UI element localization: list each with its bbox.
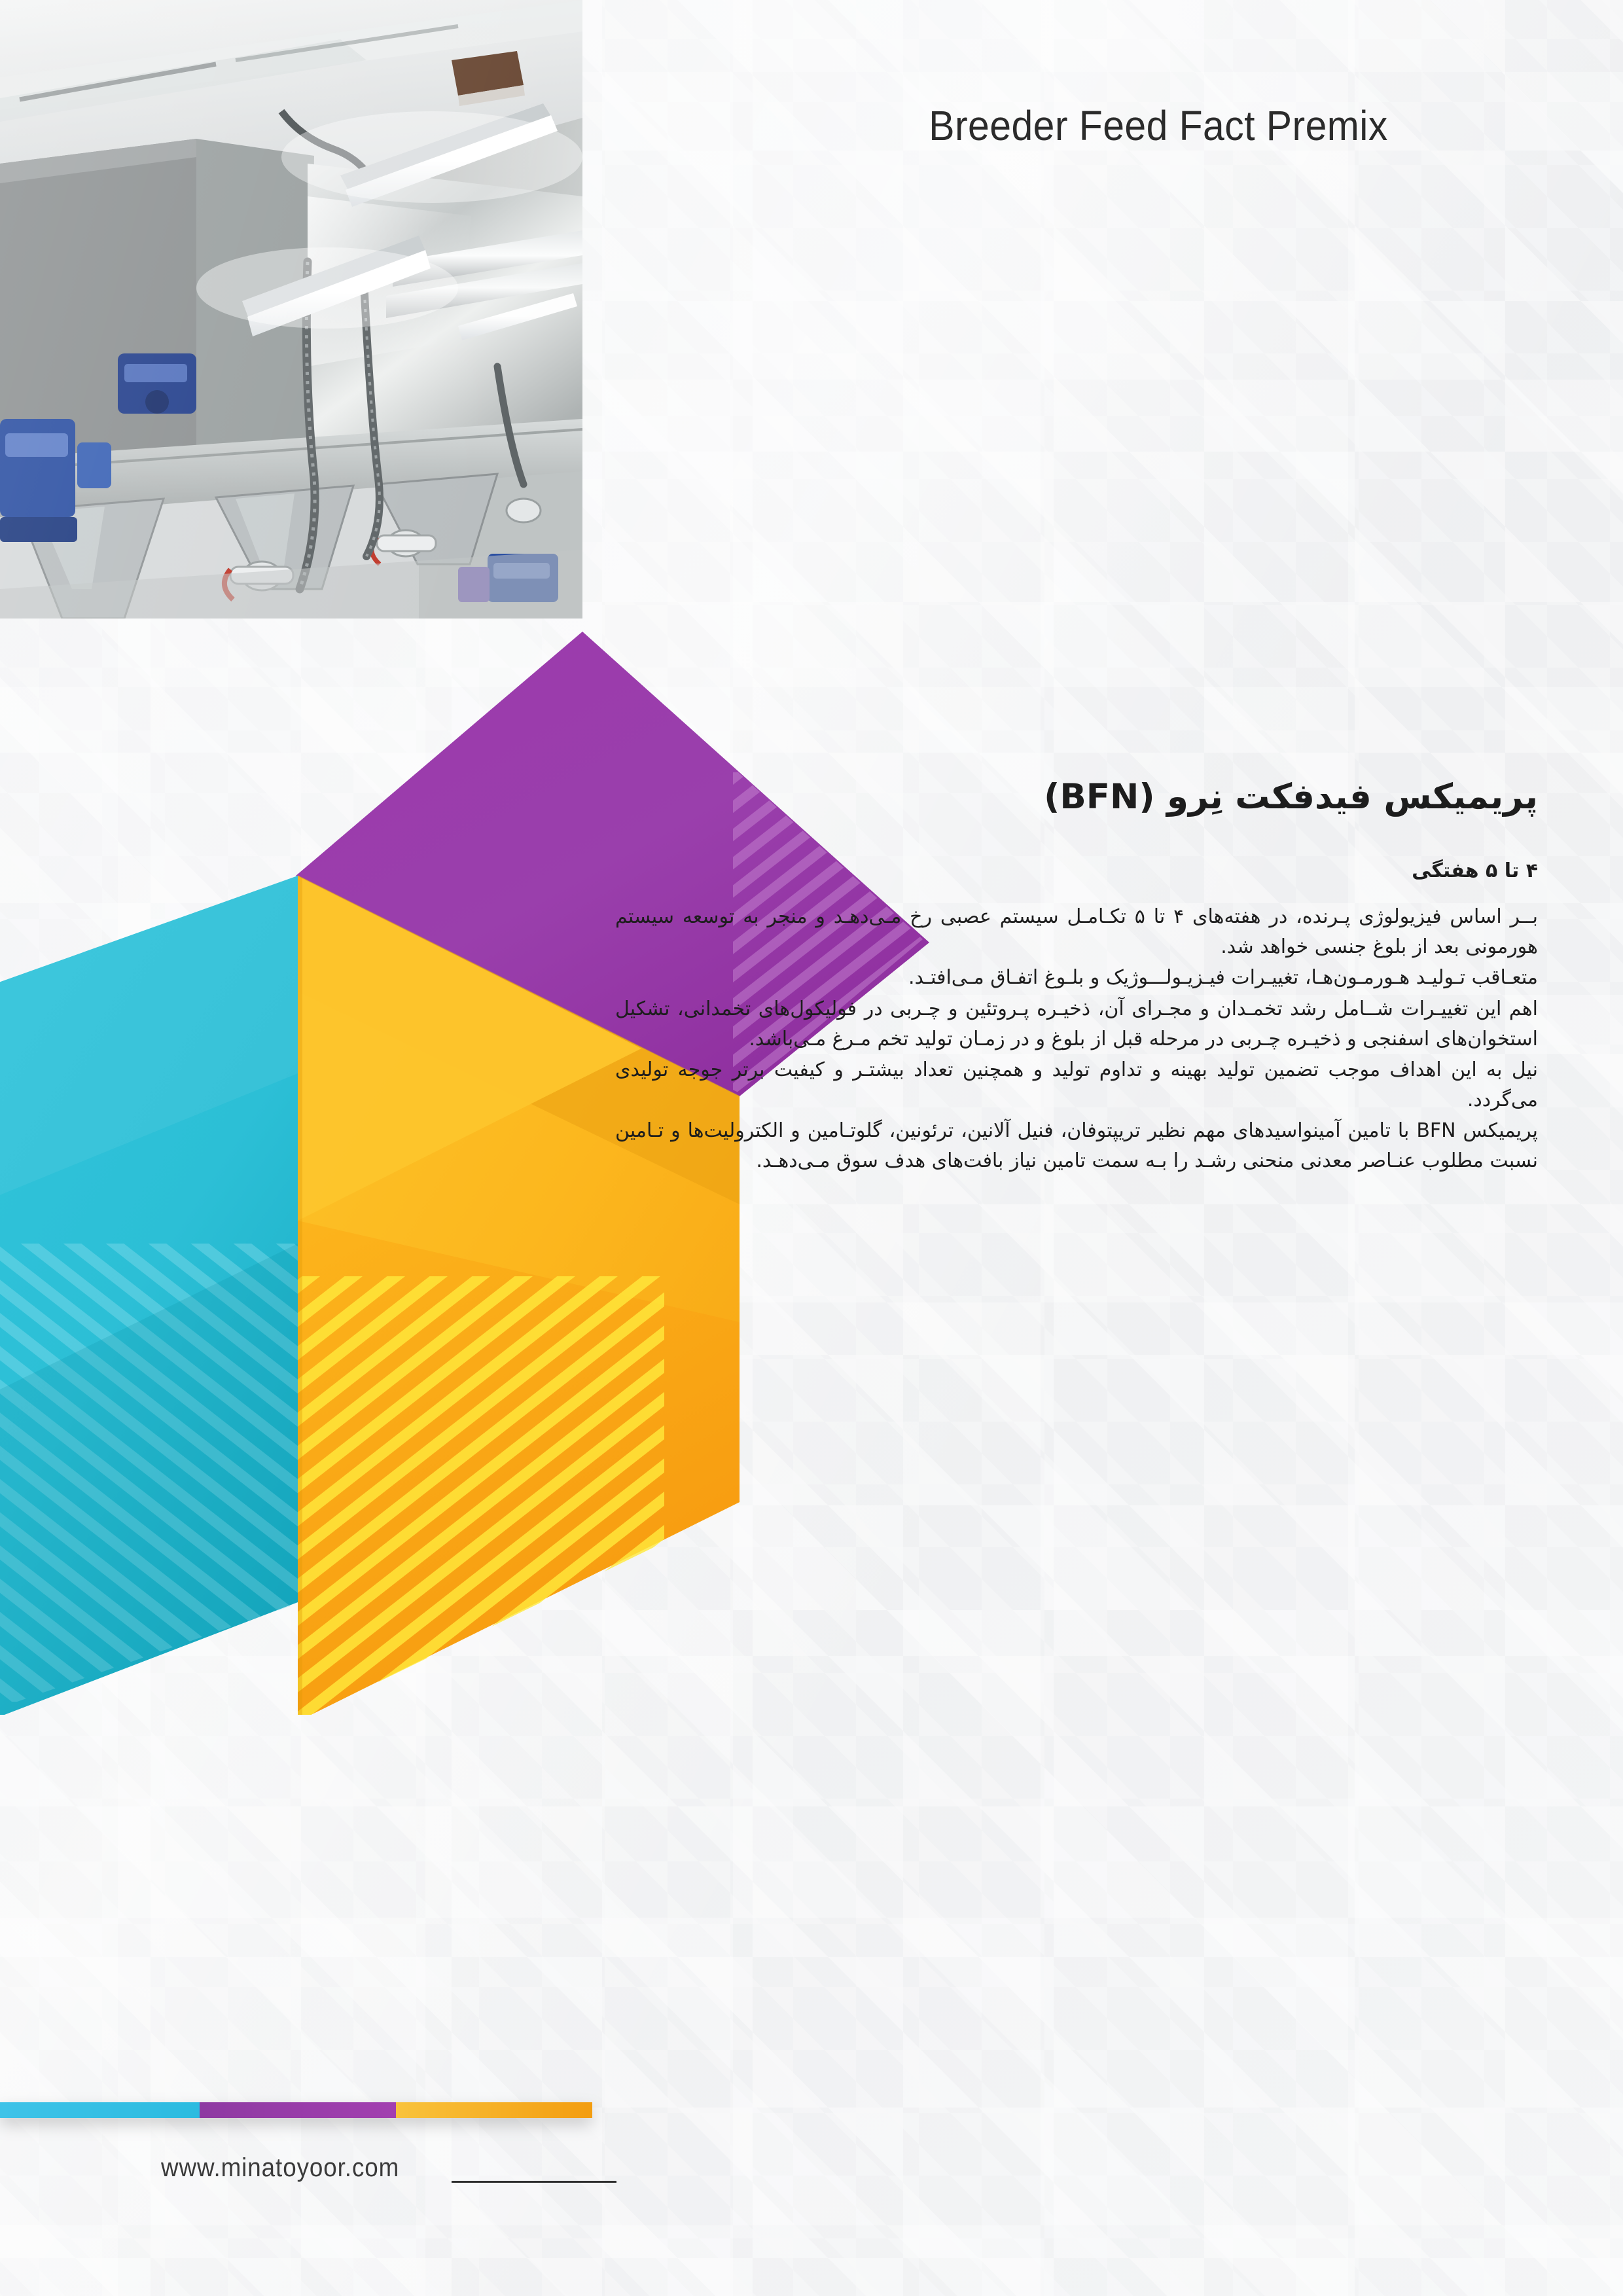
product-content: پریمیکس فیدفکت نِرو (BFN) ۴ تا ۵ هفتگی ب… (615, 776, 1538, 1176)
description-paragraph: بــر اساس فیزیولوژی پـرنده، در هفته‌های … (615, 902, 1538, 961)
website-url[interactable]: www.minatoyoor.com (161, 2153, 399, 2183)
footer-bar-segment-orange (396, 2102, 592, 2118)
facility-photo (0, 0, 582, 619)
footer-bar-segment-cyan (0, 2102, 200, 2118)
footer-underline (452, 2181, 616, 2183)
description-paragraph: متعـاقب تـولیـد هـورمـون‌هـا، تغییـرات ف… (615, 963, 1538, 993)
brochure-page: Breeder Feed Fact Premix (0, 0, 1623, 2296)
description-paragraph: اهم این تغییـرات شــامل رشد تخمـدان و مج… (615, 994, 1538, 1054)
description-paragraph: نیل به این اهداف موجب تضمین تولید بهینه … (615, 1055, 1538, 1115)
page-title: Breeder Feed Fact Premix (839, 101, 1477, 150)
product-subtitle: ۴ تا ۵ هفتگی (615, 859, 1538, 882)
description-paragraph: پریمیکس BFN با تامین آمینواسیدهای مهم نظ… (615, 1116, 1538, 1175)
footer-bar-segment-purple (200, 2102, 396, 2118)
footer-color-bar (0, 2102, 592, 2118)
product-title: پریمیکس فیدفکت نِرو (BFN) (615, 776, 1538, 819)
product-description: بــر اساس فیزیولوژی پـرنده، در هفته‌های … (615, 902, 1538, 1175)
